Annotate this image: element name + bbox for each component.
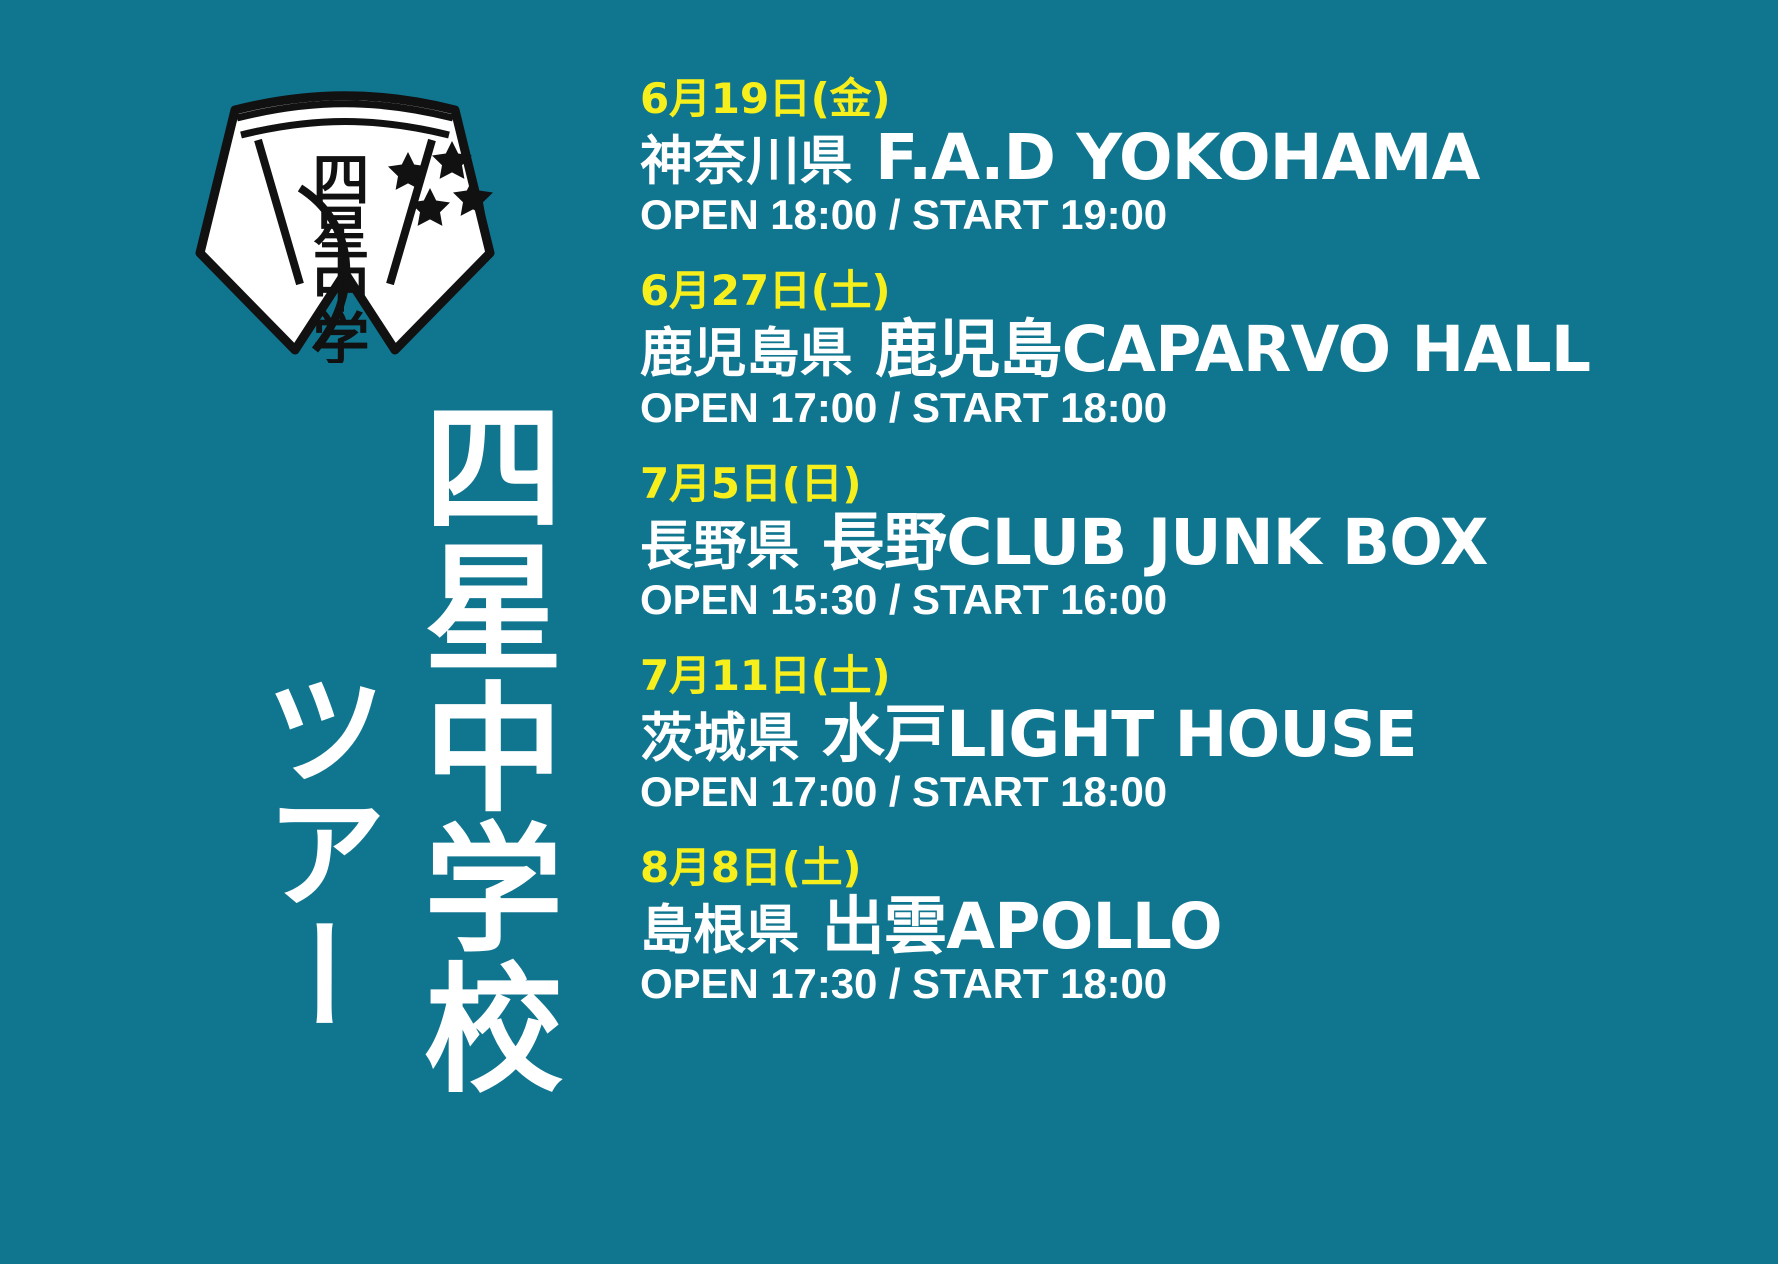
event-times: OPEN 15:30 / START 16:00 xyxy=(640,579,1750,621)
event-date: 8月8日(土) xyxy=(640,847,1750,889)
event-date: 6月27日(土) xyxy=(640,270,1750,312)
title-main-column: 四星中学校 xyxy=(412,395,550,1097)
event-venue-name: F.A.D YOKOHAMA xyxy=(875,121,1480,194)
event-date: 6月19日(金) xyxy=(640,78,1750,120)
event-date: 7月5日(日) xyxy=(640,463,1750,505)
event-venue-line: 鹿児島県鹿児島CAPARVO HALL xyxy=(640,318,1750,382)
schedule-item: 6月19日(金) 神奈川県F.A.D YOKOHAMA OPEN 18:00 /… xyxy=(640,78,1750,236)
event-prefecture: 茨城県 xyxy=(640,708,800,769)
schedule-item: 7月5日(日) 長野県長野CLUB JUNK BOX OPEN 15:30 / … xyxy=(640,463,1750,621)
event-times: OPEN 17:00 / START 18:00 xyxy=(640,387,1750,429)
event-venue-line: 島根県出雲APOLLO xyxy=(640,895,1750,959)
event-venue-name: 鹿児島CAPARVO HALL xyxy=(875,313,1590,386)
event-prefecture: 長野県 xyxy=(640,516,800,577)
logo-garment-text: 四星中学 xyxy=(303,150,369,363)
event-venue-line: 茨城県水戸LIGHT HOUSE xyxy=(640,703,1750,767)
schedule-item: 8月8日(土) 島根県出雲APOLLO OPEN 17:30 / START 1… xyxy=(640,847,1750,1005)
event-venue-name: 出雲APOLLO xyxy=(822,890,1222,963)
event-prefecture: 鹿児島県 xyxy=(640,323,853,384)
event-venue-line: 長野県長野CLUB JUNK BOX xyxy=(640,511,1750,575)
vertical-tour-title: 四星中学校 ツアー xyxy=(150,395,550,1085)
schedule-item: 7月11日(土) 茨城県水戸LIGHT HOUSE OPEN 17:00 / S… xyxy=(640,655,1750,813)
band-logo: 四星中学 xyxy=(140,88,550,363)
title-sub-column: ツアー xyxy=(254,667,375,1037)
tour-schedule-list: 6月19日(金) 神奈川県F.A.D YOKOHAMA OPEN 18:00 /… xyxy=(640,78,1750,1005)
event-prefecture: 島根県 xyxy=(640,900,800,961)
event-times: OPEN 17:00 / START 18:00 xyxy=(640,771,1750,813)
event-times: OPEN 18:00 / START 19:00 xyxy=(640,194,1750,236)
tour-poster: 四星中学 四星中学校 ツアー 6月19日(金) 神奈川県F.A.D YOKOHA… xyxy=(0,0,1778,1264)
briefs-logo-icon: 四星中学 xyxy=(140,88,550,363)
event-venue-name: 長野CLUB JUNK BOX xyxy=(822,506,1488,579)
event-venue-name: 水戸LIGHT HOUSE xyxy=(822,698,1417,771)
event-times: OPEN 17:30 / START 18:00 xyxy=(640,963,1750,1005)
schedule-item: 6月27日(土) 鹿児島県鹿児島CAPARVO HALL OPEN 17:00 … xyxy=(640,270,1750,428)
event-date: 7月11日(土) xyxy=(640,655,1750,697)
event-venue-line: 神奈川県F.A.D YOKOHAMA xyxy=(640,126,1750,190)
event-prefecture: 神奈川県 xyxy=(640,131,853,192)
